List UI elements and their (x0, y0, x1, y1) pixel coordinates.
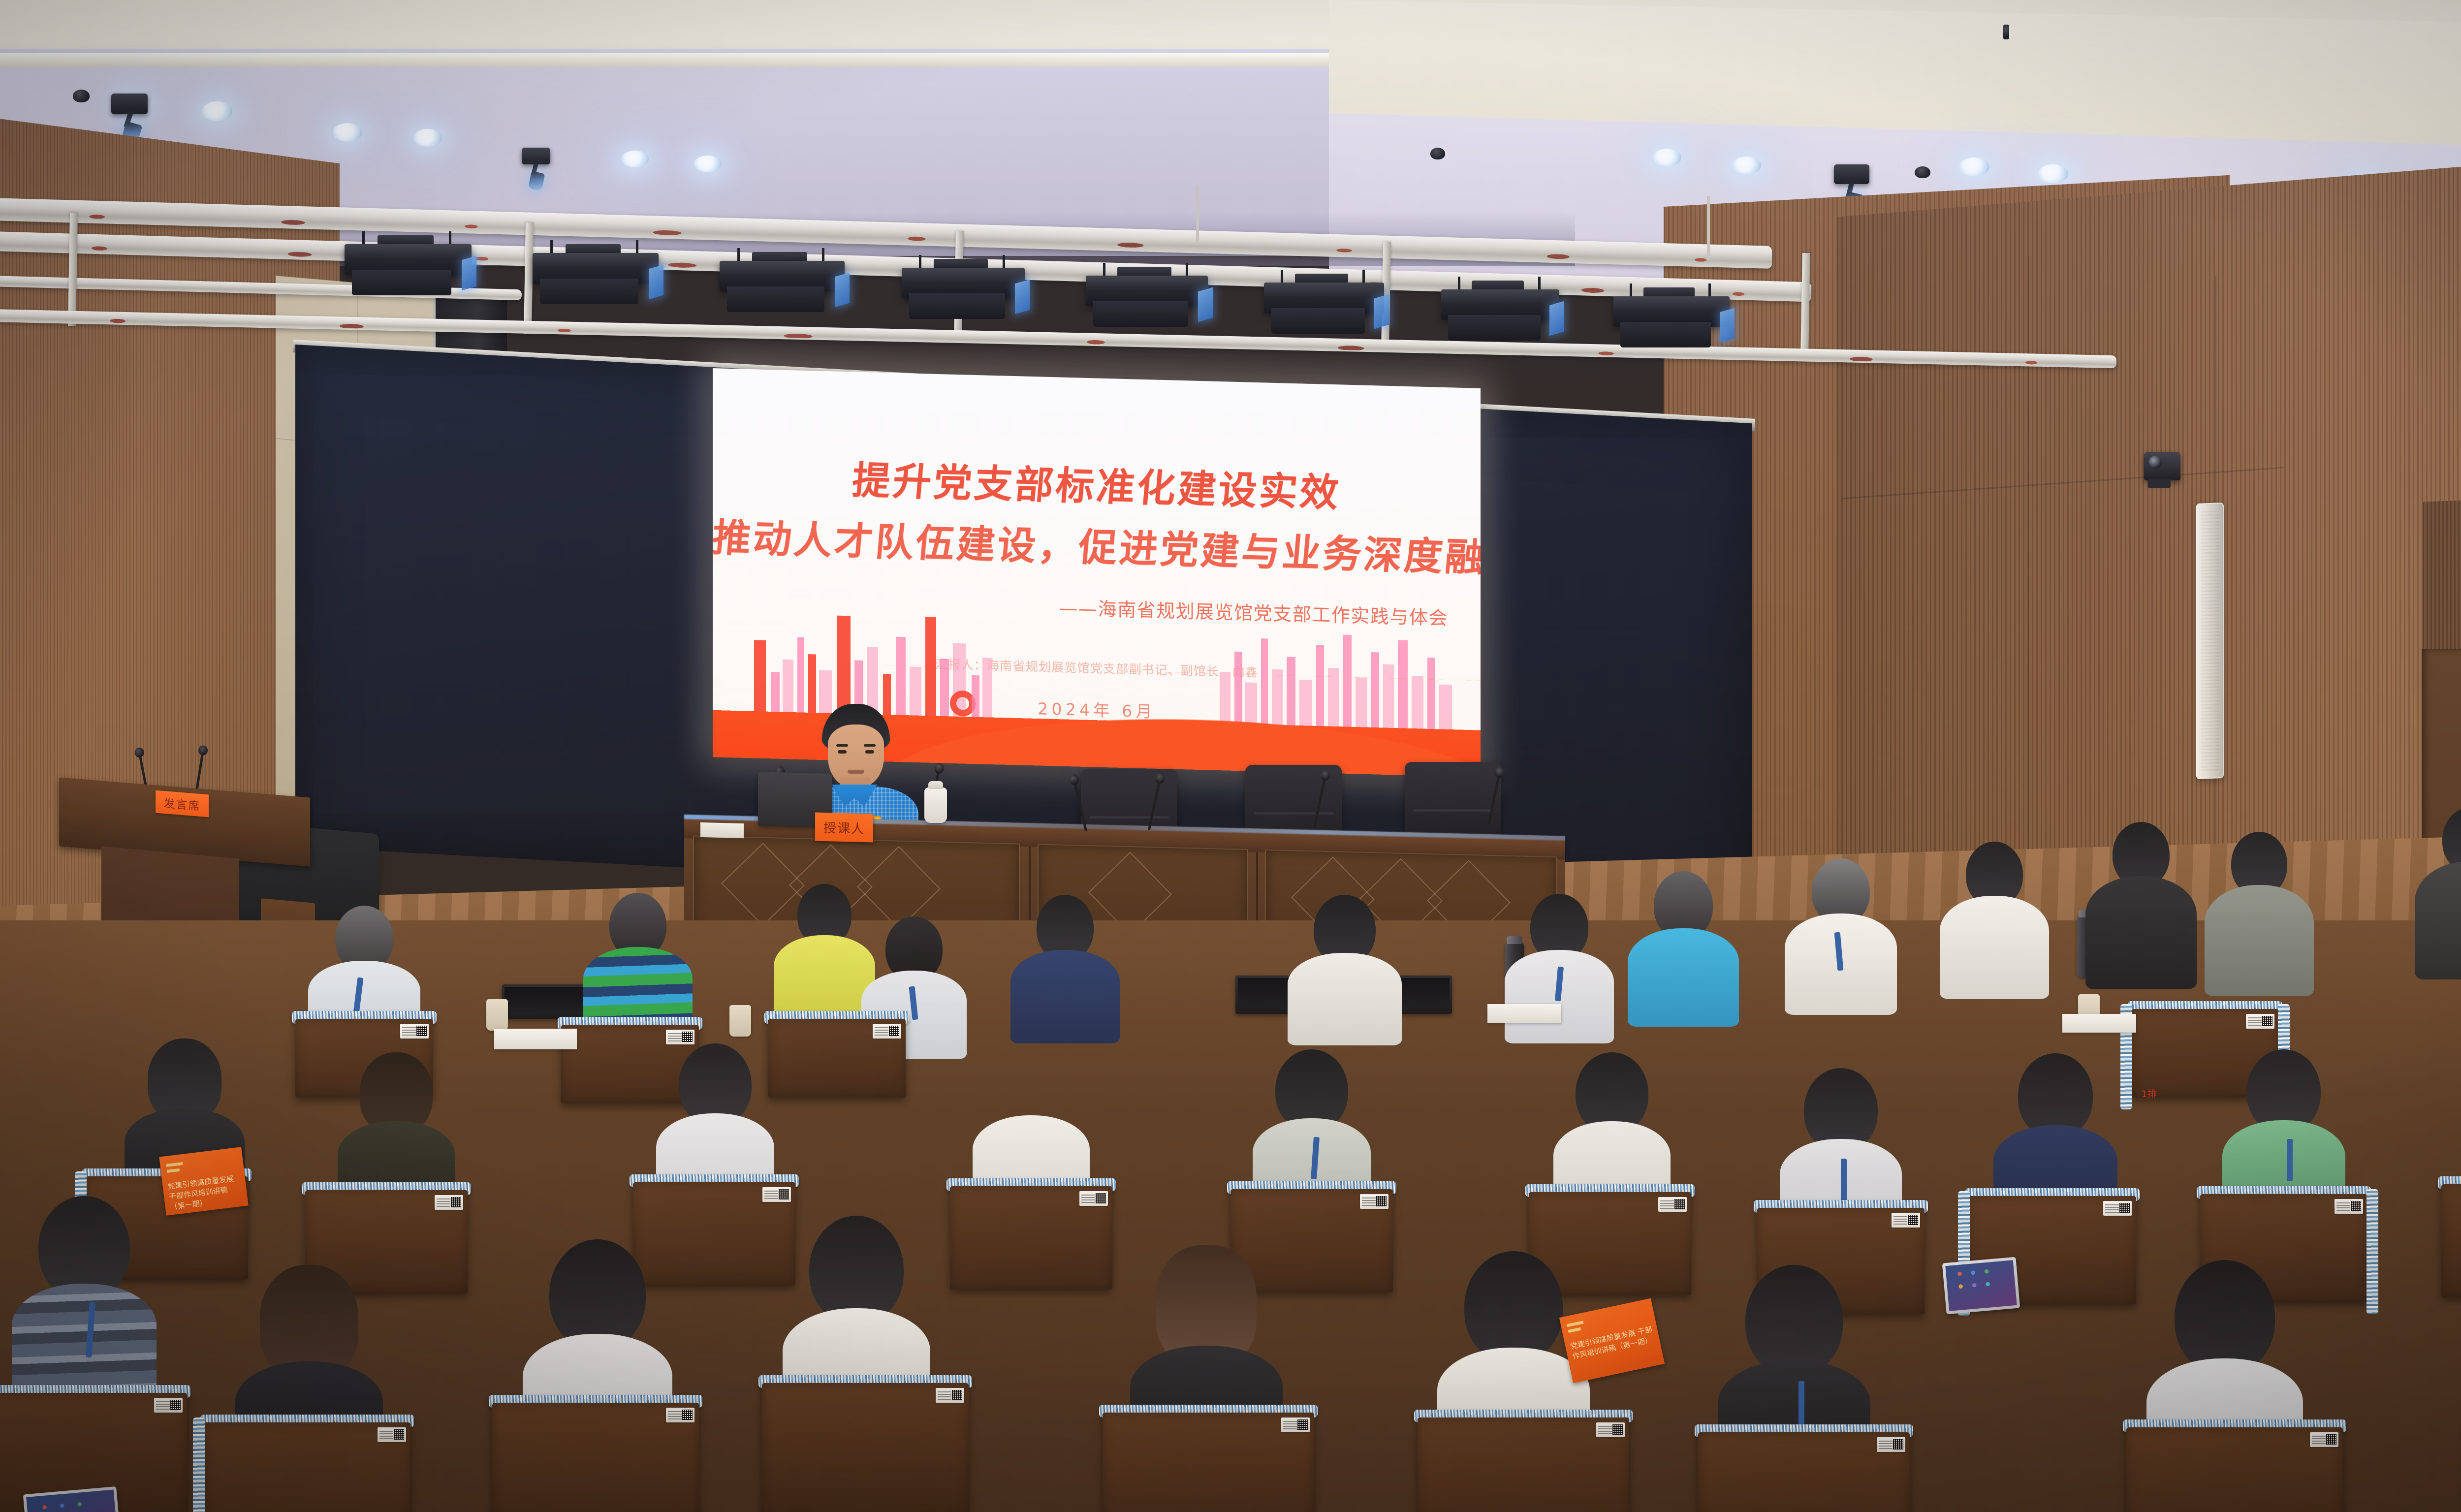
audience-member (1634, 871, 1733, 1029)
podium-top (59, 777, 310, 866)
auditorium-seat[interactable] (1418, 1417, 1629, 1512)
downlight-icon (1959, 157, 1989, 176)
person-torso (1010, 950, 1120, 1043)
person-torso (1940, 896, 2049, 999)
auditorium-seat[interactable] (204, 1422, 410, 1512)
downlight-icon (333, 123, 362, 142)
stage-light-fixture (1086, 263, 1208, 329)
stage-light-barndoor (352, 270, 451, 295)
seat-qr-tag (762, 1187, 791, 1202)
auditorium-seat[interactable] (2126, 1427, 2343, 1512)
stage-light-gel-filter (835, 273, 850, 308)
speaker-eye (865, 750, 874, 754)
audience-member (778, 884, 871, 1027)
speaker-eyebrow (864, 744, 876, 747)
seat-qr-tag (2246, 1014, 2274, 1029)
lanyard (2287, 1139, 2293, 1181)
head-table-chair (1405, 762, 1501, 843)
ceiling-spotlight-housing (522, 148, 550, 164)
stage-light-barndoor (1448, 315, 1540, 341)
lanyard (1841, 1159, 1847, 1202)
seat-qr-tag (1360, 1194, 1388, 1209)
seat-qr-tag (936, 1388, 964, 1403)
person-head (1745, 1265, 1843, 1376)
seat-qr-tag (666, 1408, 694, 1422)
downlight-icon (694, 156, 722, 172)
stage-light-gel-filter (462, 256, 476, 291)
podium-placard: 发言席 (156, 790, 209, 818)
person-head (809, 1216, 904, 1324)
seat-qr-tag (1281, 1417, 1310, 1432)
truss-hanger (1707, 196, 1710, 260)
audience-member (1016, 895, 1114, 1042)
booklet-accent-bar (1567, 1321, 1584, 1327)
audience-member (2092, 822, 2190, 999)
seat-row-label: 1排 (2137, 1088, 2161, 1101)
booklet-title: 党建引领高质量发展 干部作风培训讲稿（第一期） (167, 1173, 244, 1213)
audience-member (1295, 895, 1394, 1042)
person-torso (2415, 861, 2461, 979)
stage-light-barndoor (909, 293, 1005, 319)
ceiling-edge-trim (0, 53, 1358, 67)
person-head (2175, 1260, 2275, 1374)
seat-qr-tag (400, 1024, 429, 1039)
stage-light-gel-filter (1374, 294, 1389, 329)
seat-qr-tag (1079, 1191, 1108, 1206)
audience-member (23, 1196, 146, 1403)
seat-qr-tag (666, 1030, 694, 1044)
seat-qr-tag (1892, 1213, 1920, 1228)
stage-light-barndoor (540, 279, 638, 304)
notepad (494, 1029, 577, 1049)
stage-light-fixture (1264, 270, 1384, 335)
person-torso (2205, 885, 2314, 996)
audience-member (2422, 807, 2461, 989)
downlight-icon (413, 129, 442, 147)
speaker-eye (838, 750, 847, 754)
stage-light-gel-filter (1198, 287, 1213, 322)
auditorium-seat[interactable] (2441, 1184, 2461, 1297)
downlight-icon (1733, 157, 1761, 174)
auditorium-seat[interactable] (492, 1403, 699, 1512)
stage-light-fixture (1613, 283, 1730, 346)
tea-cup-with-lid (924, 787, 947, 823)
person-torso (2085, 876, 2197, 989)
smoke-detector-icon (73, 90, 90, 102)
wall-seam (2028, 256, 2029, 896)
stage-light-fixture (345, 231, 472, 300)
downlight-icon (202, 101, 232, 121)
column-speaker-icon (2196, 503, 2224, 779)
seat-qr-tag (1877, 1437, 1905, 1452)
audience-member (1792, 858, 1890, 1021)
seat-qr-tag (2103, 1201, 2132, 1216)
stage-light-barndoor (727, 286, 824, 312)
ptz-camera-icon (2144, 452, 2180, 480)
paper-cup (486, 999, 508, 1031)
stage-light-barndoor (1271, 308, 1365, 334)
seat-qr-tag (2335, 1199, 2363, 1214)
person-head (549, 1239, 646, 1350)
sprinkler-icon (2003, 25, 2009, 39)
notepad (2062, 1014, 2136, 1033)
booklet-accent-bar (167, 1168, 180, 1173)
notepad (1487, 1004, 1561, 1023)
stage-light-gel-filter (1549, 301, 1564, 336)
audience-member (2210, 832, 2308, 1004)
stage-light-fixture (1441, 277, 1559, 341)
person-head (1464, 1251, 1563, 1363)
auditorium-seat[interactable] (768, 1019, 906, 1098)
stage-light-gel-filter (649, 265, 663, 300)
slide-subtitle: ——海南省规划展览馆党支部工作实践与体会 (1059, 593, 1448, 630)
seat-qr-tag (1596, 1422, 1625, 1437)
audience-member (1945, 842, 2044, 1009)
person-torso (1628, 928, 1739, 1027)
stage-light-barndoor (1620, 322, 1711, 347)
auditorium-seat[interactable] (1698, 1432, 1910, 1512)
smoke-detector-icon (1915, 166, 1930, 178)
seat-qr-tag (2310, 1432, 2338, 1447)
stage-light-barndoor (1093, 301, 1188, 327)
truss-hanger (1196, 186, 1199, 245)
stage-light-fixture (902, 255, 1025, 322)
seat-qr-tag (154, 1398, 183, 1413)
truss-post (524, 222, 534, 334)
downlight-icon (621, 151, 649, 167)
seat-side-bolster (193, 1417, 205, 1512)
seat-qr-tag (873, 1024, 901, 1039)
booklet-title: 党建引领高质量发展 干部作风培训讲稿（第一期） (1570, 1324, 1656, 1362)
seat-side-bolster (2366, 1189, 2378, 1314)
stage-light-fixture (720, 248, 845, 316)
auditorium-seat[interactable] (762, 1383, 969, 1512)
downlight-icon (2038, 164, 2068, 183)
booklet-accent-bar (166, 1162, 183, 1167)
seat-qr-tag (378, 1427, 406, 1442)
training-booklet: 党建引领高质量发展 干部作风培训讲稿（第一期） (159, 1147, 248, 1216)
speaker-mouth (848, 770, 864, 774)
seat-qr-tag (1658, 1197, 1687, 1212)
smoke-detector-icon (1430, 148, 1445, 159)
downlight-icon (1653, 149, 1681, 166)
stage-light-gel-filter (1015, 280, 1030, 315)
auditorium-seat[interactable] (950, 1186, 1112, 1290)
stage-light-gel-filter (1720, 308, 1735, 343)
booklet-accent-bar (1568, 1327, 1581, 1333)
speaker-eyebrow (836, 744, 848, 747)
speaker-nameplate: 授课人 (815, 813, 873, 843)
stage-light-fixture (533, 240, 659, 309)
conference-hall-photo: 提升党支部标准化建设实效 推动人才队伍建设，促进党建与业务深度融合 ——海南省规… (0, 0, 2461, 1512)
seat-back (2441, 1184, 2461, 1297)
seat-qr-tag (435, 1195, 463, 1210)
person-torso (1288, 953, 1402, 1045)
auditorium-seat[interactable] (1103, 1413, 1314, 1512)
audience-seating-area: 1排 (0, 920, 2461, 1512)
attendee-laptop[interactable] (1942, 1257, 2020, 1315)
table-papers (700, 822, 744, 838)
slide-title-line2: 推动人才队伍建设，促进党建与业务深度融合 (713, 507, 1481, 582)
paper-cup (729, 1005, 751, 1037)
